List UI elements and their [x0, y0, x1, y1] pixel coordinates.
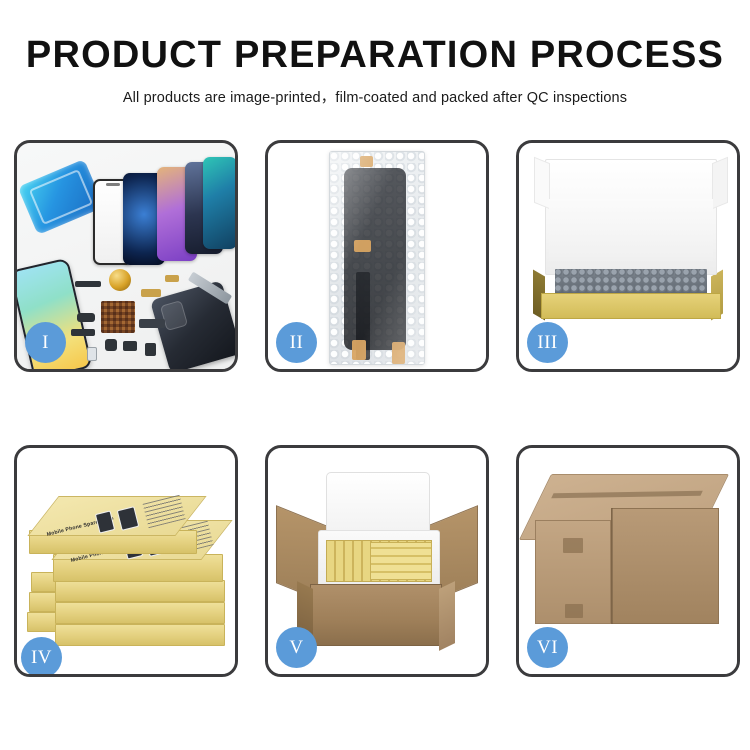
- carton-corner-edge: [611, 508, 613, 624]
- wrapped-screen: [344, 168, 406, 350]
- step-badge-2: II: [276, 322, 317, 363]
- spare-part: [71, 329, 95, 336]
- speaker-component-icon: [109, 269, 131, 291]
- stacked-box: [55, 580, 225, 602]
- carton-tape: [563, 538, 583, 553]
- carton-right-face: [611, 508, 719, 624]
- spare-part: [77, 313, 95, 322]
- page-header: PRODUCT PREPARATION PROCESS All products…: [0, 0, 750, 107]
- tape-strip: [392, 342, 405, 364]
- page-subtitle: All products are image-printed，film-coat…: [0, 86, 750, 107]
- phone-screen-teal: [203, 157, 235, 249]
- white-foam-sheet: [549, 199, 713, 261]
- bubble-wrap-bag: [329, 151, 425, 365]
- carton-tape: [565, 604, 583, 618]
- spare-part: [165, 275, 179, 282]
- stacked-box: [55, 624, 225, 646]
- step-badge-3: III: [527, 322, 568, 363]
- phone-lineup: [91, 157, 231, 269]
- spare-part: [139, 319, 165, 328]
- spare-part: [87, 347, 97, 361]
- logic-board-icon: [101, 301, 135, 333]
- step-panel-4[interactable]: Mobile Phone Spare Parts Mobile Phone Sp…: [14, 445, 238, 677]
- step-badge-1: I: [25, 322, 66, 363]
- box-stack: Mobile Phone Spare Parts Mobile Phone Sp…: [23, 472, 229, 662]
- spare-part: [105, 339, 117, 351]
- process-step-grid: I II: [14, 140, 740, 680]
- step-badge-6: VI: [527, 627, 568, 668]
- step-panel-6[interactable]: VI: [516, 445, 740, 677]
- tape-strip: [360, 156, 373, 167]
- notch-icon: [106, 183, 120, 186]
- spare-part: [145, 343, 156, 356]
- spare-part: [141, 289, 161, 297]
- step-badge-5: V: [276, 627, 317, 668]
- spare-part: [75, 281, 101, 287]
- product-preparation-page: PRODUCT PREPARATION PROCESS All products…: [0, 0, 750, 750]
- step-panel-5[interactable]: V: [265, 445, 489, 677]
- stacked-box: [55, 602, 225, 624]
- page-title: PRODUCT PREPARATION PROCESS: [0, 36, 750, 76]
- packed-yellow-boxes: [370, 542, 432, 580]
- tape-strip: [352, 340, 366, 360]
- step-badge-4: IV: [21, 637, 62, 677]
- carton-body: [310, 584, 442, 646]
- spare-part: [123, 341, 137, 351]
- step-panel-2[interactable]: II: [265, 140, 489, 372]
- step-panel-1[interactable]: I: [14, 140, 238, 372]
- kraft-box-front: [541, 293, 721, 319]
- tape-strip: [354, 240, 371, 252]
- step-panel-3[interactable]: III: [516, 140, 740, 372]
